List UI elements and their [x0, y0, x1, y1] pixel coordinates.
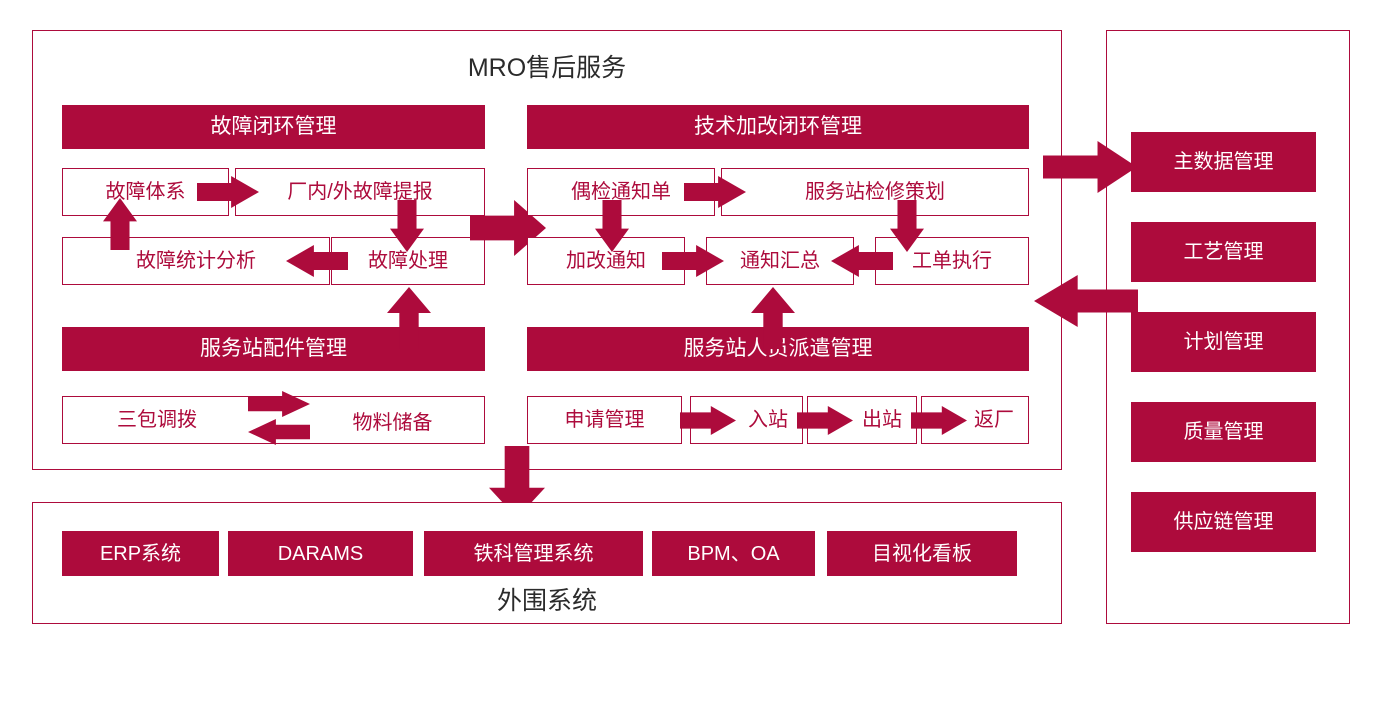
group-header-service-station-parts: 服务站配件管理 [62, 327, 485, 371]
system-chip-visual-board[interactable]: 目视化看板 [827, 531, 1017, 576]
system-chip-tieke[interactable]: 铁科管理系统 [424, 531, 643, 576]
side-item-quality[interactable]: 质量管理 [1131, 402, 1316, 462]
node-service-station-overhaul-plan[interactable]: 服务站检修策划 [721, 168, 1029, 216]
node-modification-notice[interactable]: 加改通知 [527, 237, 685, 285]
side-item-process[interactable]: 工艺管理 [1131, 222, 1316, 282]
side-item-supply-chain[interactable]: 供应链管理 [1131, 492, 1316, 552]
peripheral-panel-title: 外围系统 [32, 580, 1062, 618]
node-work-order-execution[interactable]: 工单执行 [875, 237, 1029, 285]
side-item-planning[interactable]: 计划管理 [1131, 312, 1316, 372]
main-panel-title: MRO售后服务 [32, 46, 1062, 86]
group-header-fault-closed-loop: 故障闭环管理 [62, 105, 485, 149]
node-material-reserve-label[interactable]: 物料储备 [300, 396, 485, 444]
group-header-tech-modification: 技术加改闭环管理 [527, 105, 1029, 149]
side-item-master-data[interactable]: 主数据管理 [1131, 132, 1316, 192]
system-chip-darams[interactable]: DARAMS [228, 531, 413, 576]
node-fault-report[interactable]: 厂内/外故障提报 [235, 168, 485, 216]
diagram-canvas: MRO售后服务 故障闭环管理 故障体系 厂内/外故障提报 故障统计分析 故障处理… [0, 0, 1380, 710]
system-chip-bpm-oa[interactable]: BPM、OA [652, 531, 815, 576]
system-chip-erp[interactable]: ERP系统 [62, 531, 219, 576]
node-application-management[interactable]: 申请管理 [527, 396, 682, 444]
